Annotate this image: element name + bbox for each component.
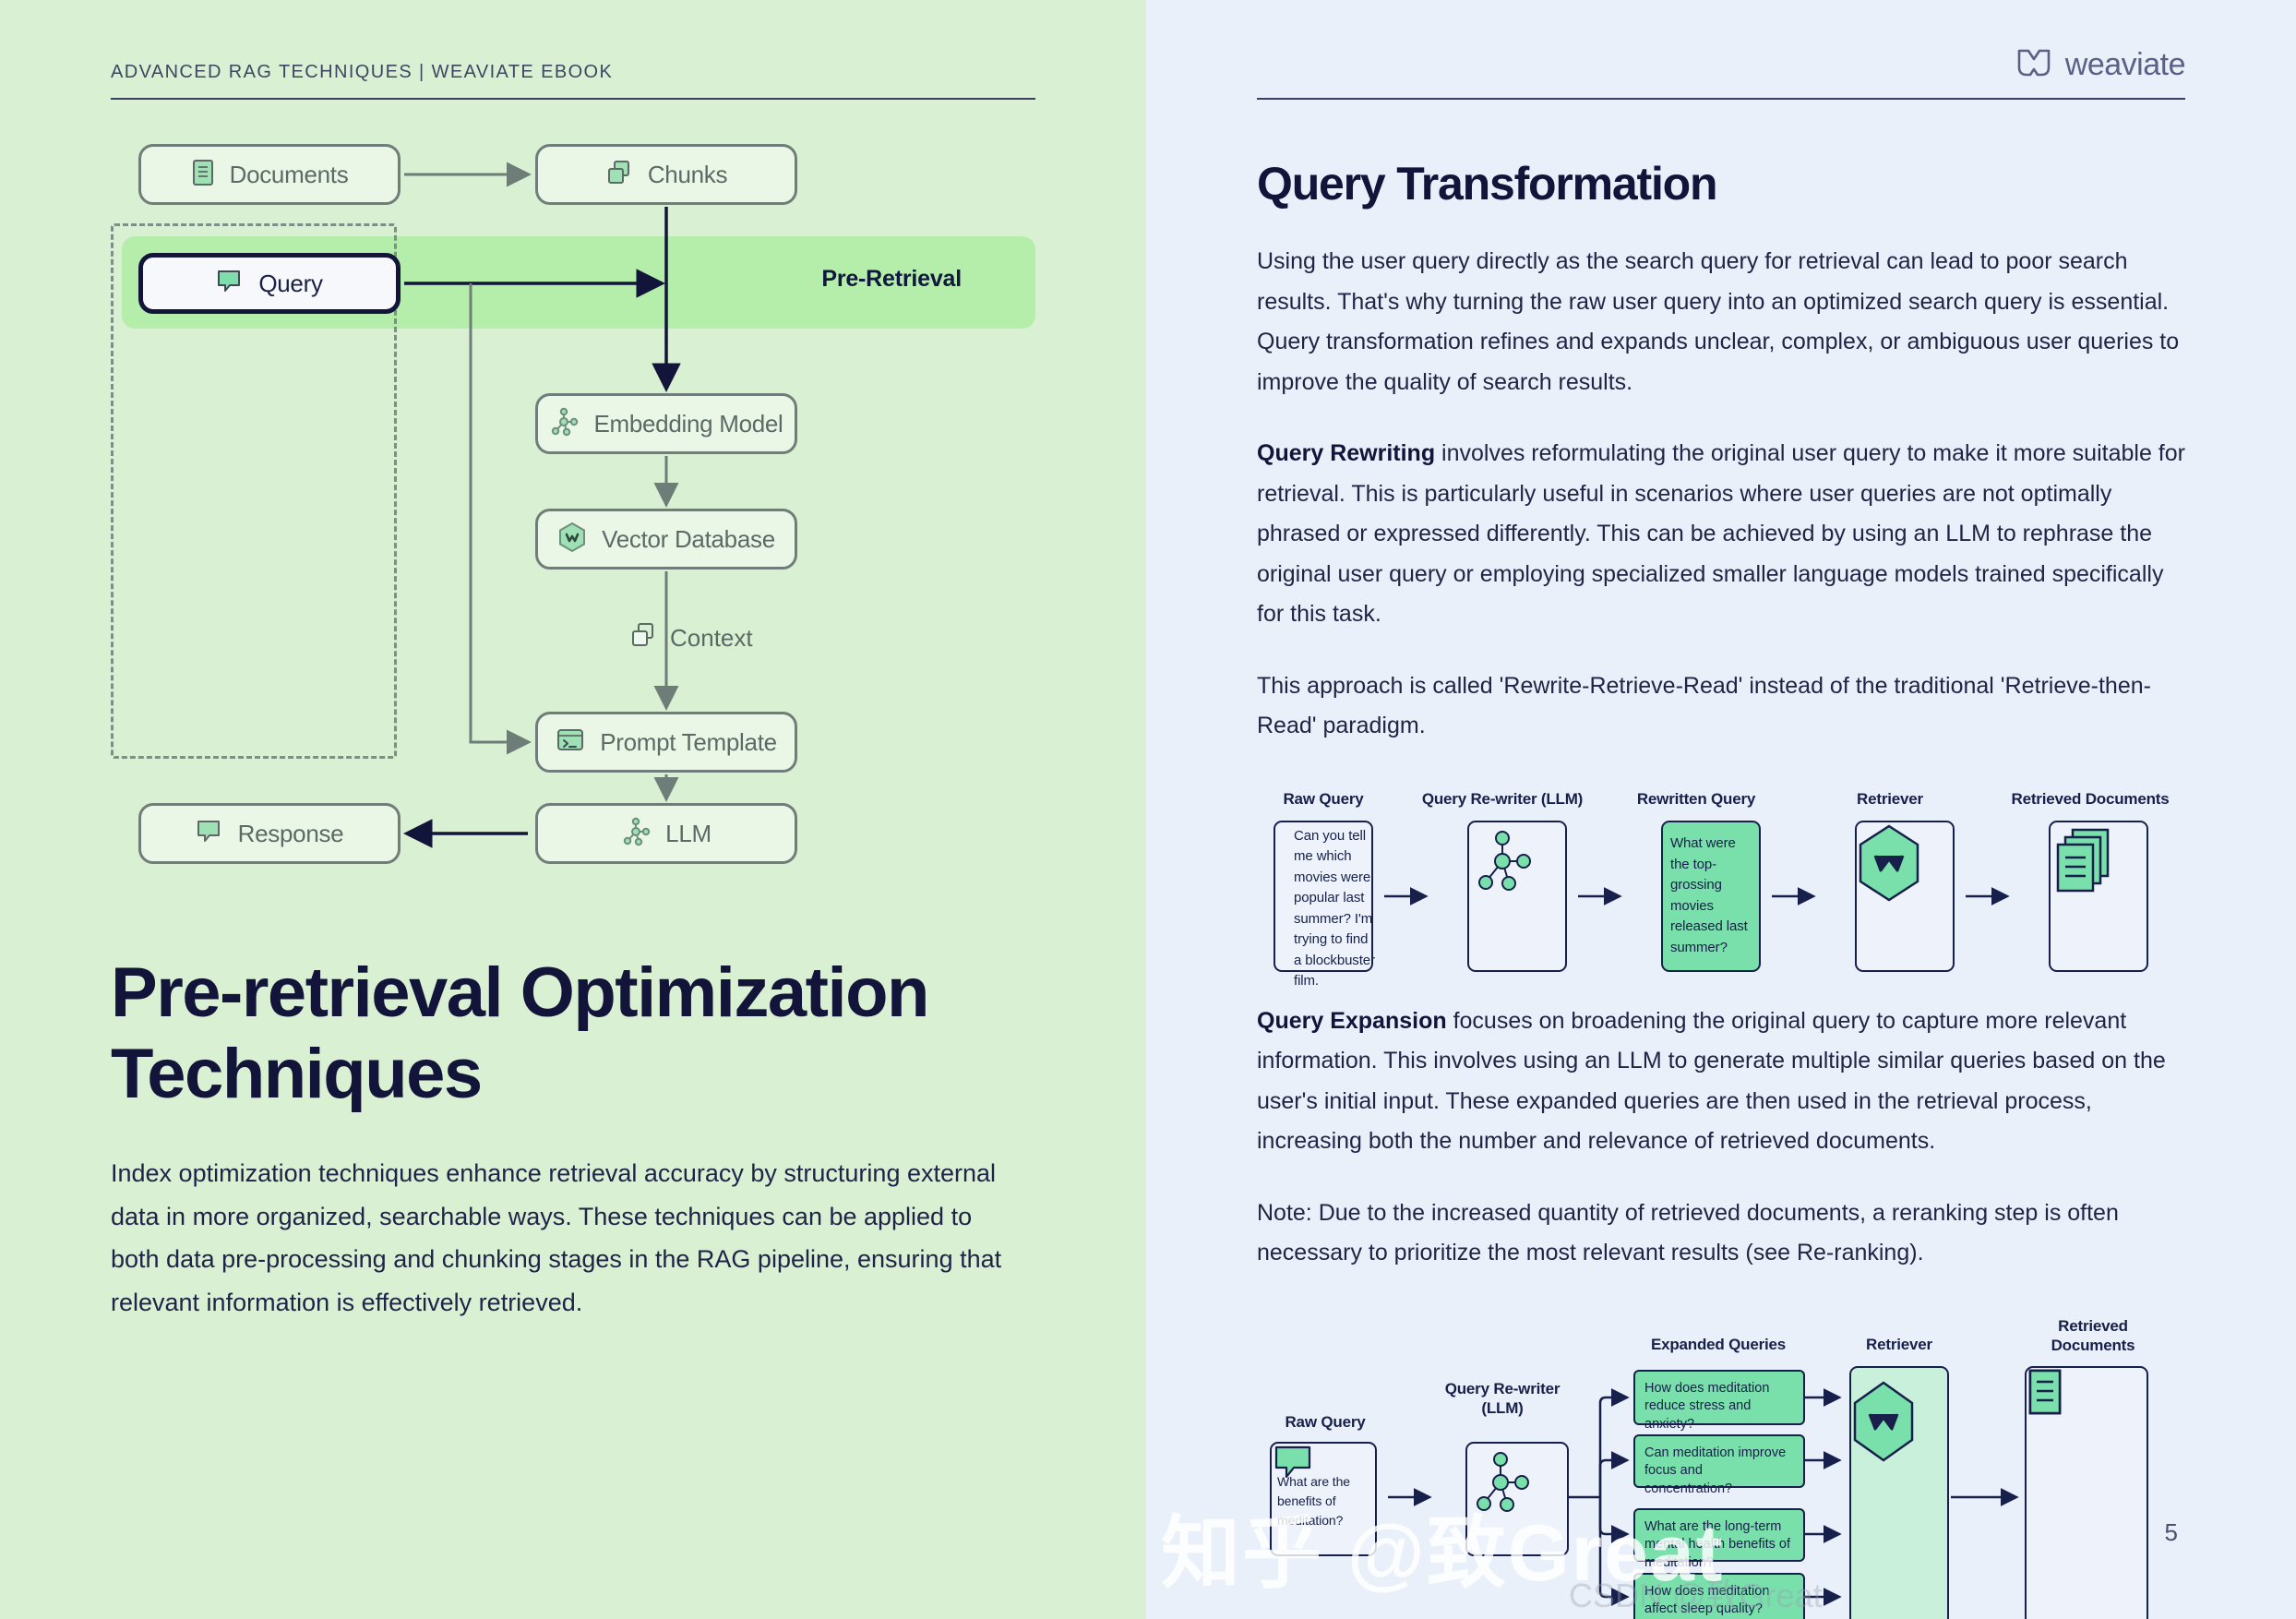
pre-retrieval-label: Pre-Retrieval: [821, 266, 962, 293]
flow2-label-documents: Retrieved Documents: [2028, 1316, 2158, 1356]
context-edge-label: Context: [629, 621, 753, 655]
weaviate-logo-icon: [2015, 47, 2052, 83]
paragraph-rewrite-retrieve-read: This approach is called 'Rewrite-Retriev…: [1257, 666, 2185, 747]
flow2-label-rewriter: Query Re-writer (LLM): [1438, 1379, 1567, 1419]
flow2-expanded-query-2[interactable]: Can meditation improve focus and concent…: [1633, 1434, 1805, 1488]
node-label: Vector Database: [602, 525, 775, 554]
chat-bubble-icon: [196, 819, 223, 849]
node-label: LLM: [665, 820, 712, 848]
flow2-retriever-box[interactable]: [1849, 1366, 1949, 1619]
flow1-rewritten-query-text: What were the top-grossing movies releas…: [1670, 833, 1752, 958]
chat-bubble-icon: [216, 269, 244, 299]
flow1-label-rewriter: Query Re-writer (LLM): [1421, 789, 1584, 809]
document-icon: [191, 159, 215, 191]
node-label: Query: [258, 270, 322, 298]
node-prompt-template[interactable]: Prompt Template: [535, 712, 797, 773]
page-number: 5: [2165, 1518, 2178, 1547]
node-embedding-model[interactable]: Embedding Model: [535, 393, 797, 454]
node-label: Embedding Model: [593, 410, 783, 438]
ebook-spread: ADVANCED RAG TECHNIQUES | WEAVIATE EBOOK…: [0, 0, 2296, 1619]
weaviate-logo: weaviate: [2015, 47, 2185, 83]
flow1-rewriter-box[interactable]: [1467, 821, 1567, 972]
chunks-icon: [605, 159, 633, 191]
left-page: ADVANCED RAG TECHNIQUES | WEAVIATE EBOOK…: [0, 0, 1146, 1619]
flow1-label-raw-query: Raw Query: [1264, 789, 1382, 809]
node-llm[interactable]: LLM: [535, 803, 797, 864]
page-body-text: Index optimization techniques enhance re…: [111, 1152, 1015, 1324]
node-query[interactable]: Query: [138, 253, 401, 314]
section-title: Query Transformation: [1257, 157, 2185, 210]
lead-in-query-expansion: Query Expansion: [1257, 1008, 1447, 1034]
node-chunks[interactable]: Chunks: [535, 144, 797, 205]
flow1-documents-box[interactable]: [2049, 821, 2148, 972]
node-label: Documents: [230, 161, 349, 189]
node-label: Response: [238, 820, 344, 848]
flow1-label-rewritten: Rewritten Query: [1624, 789, 1768, 809]
flow1-raw-query-box[interactable]: Can you tell me which movies were popula…: [1274, 821, 1373, 972]
right-page: weaviate Query Transformation Using the …: [1146, 0, 2296, 1619]
chunks-icon: [629, 621, 657, 655]
page-title: Pre-retrieval Optimization Techniques: [111, 953, 1035, 1115]
flow1-label-documents: Retrieved Documents: [2003, 789, 2178, 809]
flow2-documents-box[interactable]: [2025, 1366, 2148, 1619]
right-page-header: weaviate: [1257, 0, 2185, 100]
node-label: Prompt Template: [600, 728, 777, 757]
flow1-raw-query-text: Can you tell me which movies were popula…: [1294, 826, 1375, 992]
paragraph-query-rewriting: Query Rewriting involves reformulating t…: [1257, 434, 2185, 635]
brand-name: weaviate: [2065, 47, 2185, 83]
left-page-header: ADVANCED RAG TECHNIQUES | WEAVIATE EBOOK: [111, 0, 1035, 100]
node-label: Chunks: [648, 161, 727, 189]
query-rewriting-flow: Raw Query Query Re-writer (LLM) Rewritte…: [1257, 786, 2185, 970]
flow1-retriever-box[interactable]: [1855, 821, 1955, 972]
flow1-rewritten-query-box[interactable]: What were the top-grossing movies releas…: [1661, 821, 1761, 972]
flow2-label-retriever: Retriever: [1844, 1335, 1955, 1354]
network-nodes-icon: [621, 817, 651, 851]
hexagon-weaviate-icon: [557, 522, 587, 558]
node-vector-database[interactable]: Vector Database: [535, 509, 797, 570]
terminal-icon: [556, 727, 585, 758]
flow2-expanded-query-1[interactable]: How does meditation reduce stress and an…: [1633, 1370, 1805, 1425]
paragraph-query-expansion: Query Expansion focuses on broadening th…: [1257, 1001, 2185, 1162]
node-documents[interactable]: Documents: [138, 144, 401, 205]
flow1-label-retriever: Retriever: [1818, 789, 1962, 809]
page-kicker: ADVANCED RAG TECHNIQUES | WEAVIATE EBOOK: [111, 62, 613, 83]
network-nodes-icon: [549, 407, 579, 441]
paragraph-intro: Using the user query directly as the sea…: [1257, 242, 2185, 402]
flow2-label-expanded: Expanded Queries: [1632, 1335, 1805, 1354]
flow2-label-raw-query: Raw Query: [1266, 1412, 1384, 1432]
paragraph-note: Note: Due to the increased quantity of r…: [1257, 1193, 2185, 1274]
node-response[interactable]: Response: [138, 803, 401, 864]
rag-pipeline-diagram: Pre-Retrieval: [111, 126, 1035, 901]
context-label-text: Context: [670, 624, 753, 653]
lead-in-query-rewriting: Query Rewriting: [1257, 440, 1435, 466]
watermark-csdn: CSDN @致Great: [1569, 1569, 1823, 1617]
